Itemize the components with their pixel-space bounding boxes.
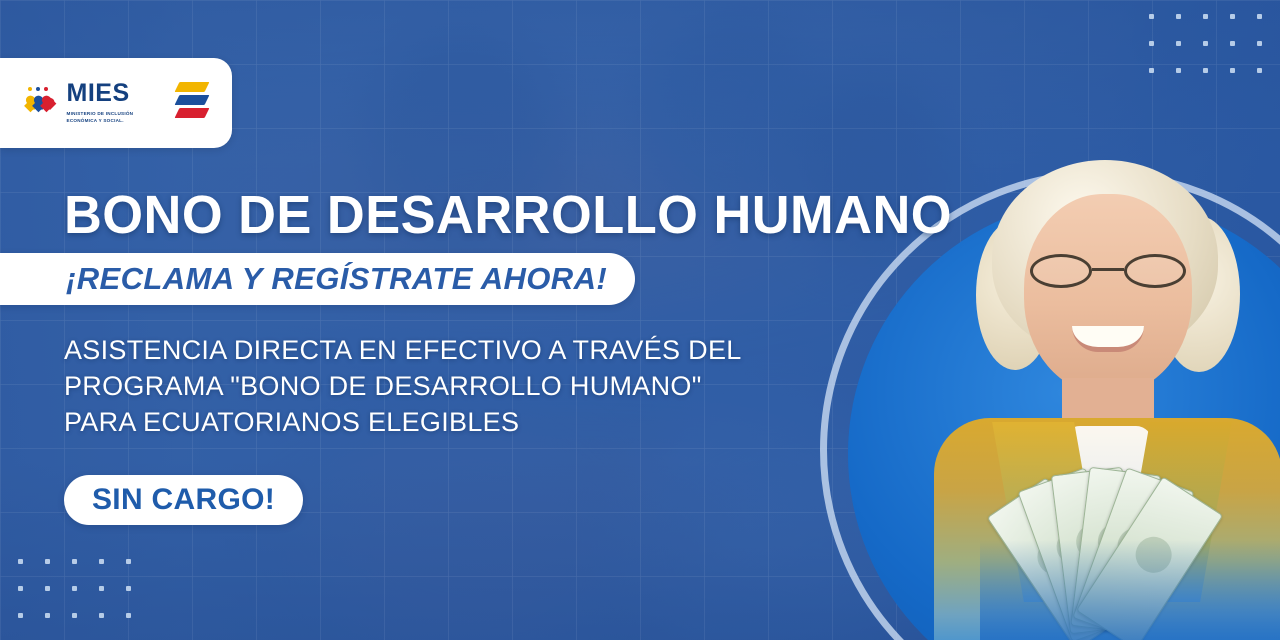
mies-lockup: MIES MINISTERIO DE INCLUSIÓN ECONÓMICA Y… (26, 81, 163, 125)
no-cost-badge: SIN CARGO! (64, 475, 303, 525)
dot-grid-top-right-icon (1149, 14, 1262, 73)
mies-name: MIES (67, 81, 163, 106)
dot-grid-bottom-left-icon (18, 559, 131, 618)
heart-red-icon (42, 96, 59, 113)
face (1024, 194, 1192, 394)
ecuador-flag-mark-icon (177, 82, 207, 124)
eyeglasses-icon (1030, 254, 1186, 288)
subheadline-pill: ¡RECLAMA Y REGÍSTRATE AHORA! (0, 253, 635, 305)
no-cost-badge-label: SIN CARGO! (92, 483, 275, 517)
bono-desarrollo-humano-banner: MIES MINISTERIO DE INCLUSIÓN ECONÓMICA Y… (0, 0, 1280, 640)
mies-hearts-icon (26, 87, 60, 119)
mies-dots-icon (28, 87, 48, 91)
page-title: BONO DE DESARROLLO HUMANO (64, 184, 952, 246)
body-line-1: ASISTENCIA DIRECTA EN EFECTIVO A TRAVÉS … (64, 332, 884, 368)
mies-subtitle: MINISTERIO DE INCLUSIÓN ECONÓMICA Y SOCI… (67, 111, 163, 125)
glasses-bridge (1092, 268, 1124, 271)
lens-left (1030, 254, 1092, 288)
photo-bottom-fade (980, 540, 1280, 640)
mies-text-block: MIES MINISTERIO DE INCLUSIÓN ECONÓMICA Y… (67, 81, 163, 125)
mies-logo-card: MIES MINISTERIO DE INCLUSIÓN ECONÓMICA Y… (0, 58, 232, 148)
body-copy: ASISTENCIA DIRECTA EN EFECTIVO A TRAVÉS … (64, 332, 884, 441)
subheadline-text: ¡RECLAMA Y REGÍSTRATE AHORA! (66, 261, 607, 297)
lens-right (1124, 254, 1186, 288)
body-line-2: PROGRAMA "BONO DE DESARROLLO HUMANO" (64, 368, 884, 404)
body-line-3: PARA ECUATORIANOS ELEGIBLES (64, 404, 884, 440)
